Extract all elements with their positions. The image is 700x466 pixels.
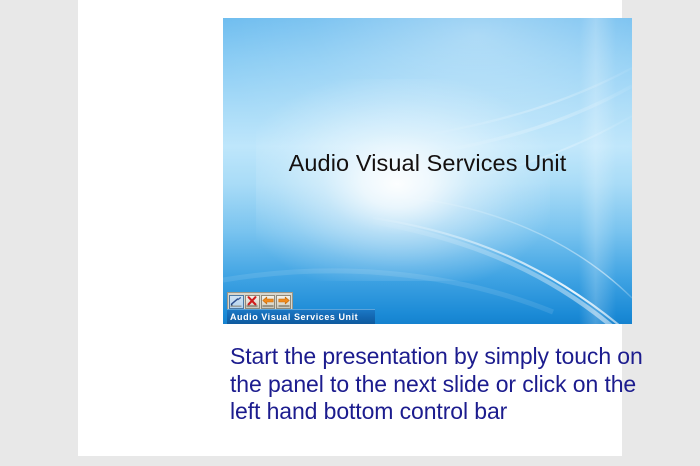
control-bar-caption-text: Audio Visual Services Unit — [230, 313, 358, 322]
red-x-icon — [246, 296, 258, 307]
slide-title: Audio Visual Services Unit — [223, 150, 632, 177]
next-slide-button[interactable] — [276, 295, 291, 309]
document-sheet: Audio Visual Services Unit — [78, 0, 622, 456]
orange-left-arrow-icon — [262, 296, 274, 307]
slide-center-glow — [256, 79, 550, 281]
presentation-slide[interactable]: Audio Visual Services Unit — [223, 18, 632, 324]
previous-slide-button[interactable] — [261, 295, 276, 309]
slide-control-bar[interactable]: Audio Visual Services Unit — [227, 292, 375, 324]
control-bar-toolbar[interactable] — [227, 292, 293, 309]
pen-tool-button[interactable] — [229, 295, 244, 309]
control-bar-caption: Audio Visual Services Unit — [227, 309, 375, 324]
pen-icon — [230, 296, 242, 307]
orange-right-arrow-icon — [278, 296, 290, 307]
instruction-caption: Start the presentation by simply touch o… — [230, 343, 655, 426]
erase-all-button[interactable] — [245, 295, 260, 309]
